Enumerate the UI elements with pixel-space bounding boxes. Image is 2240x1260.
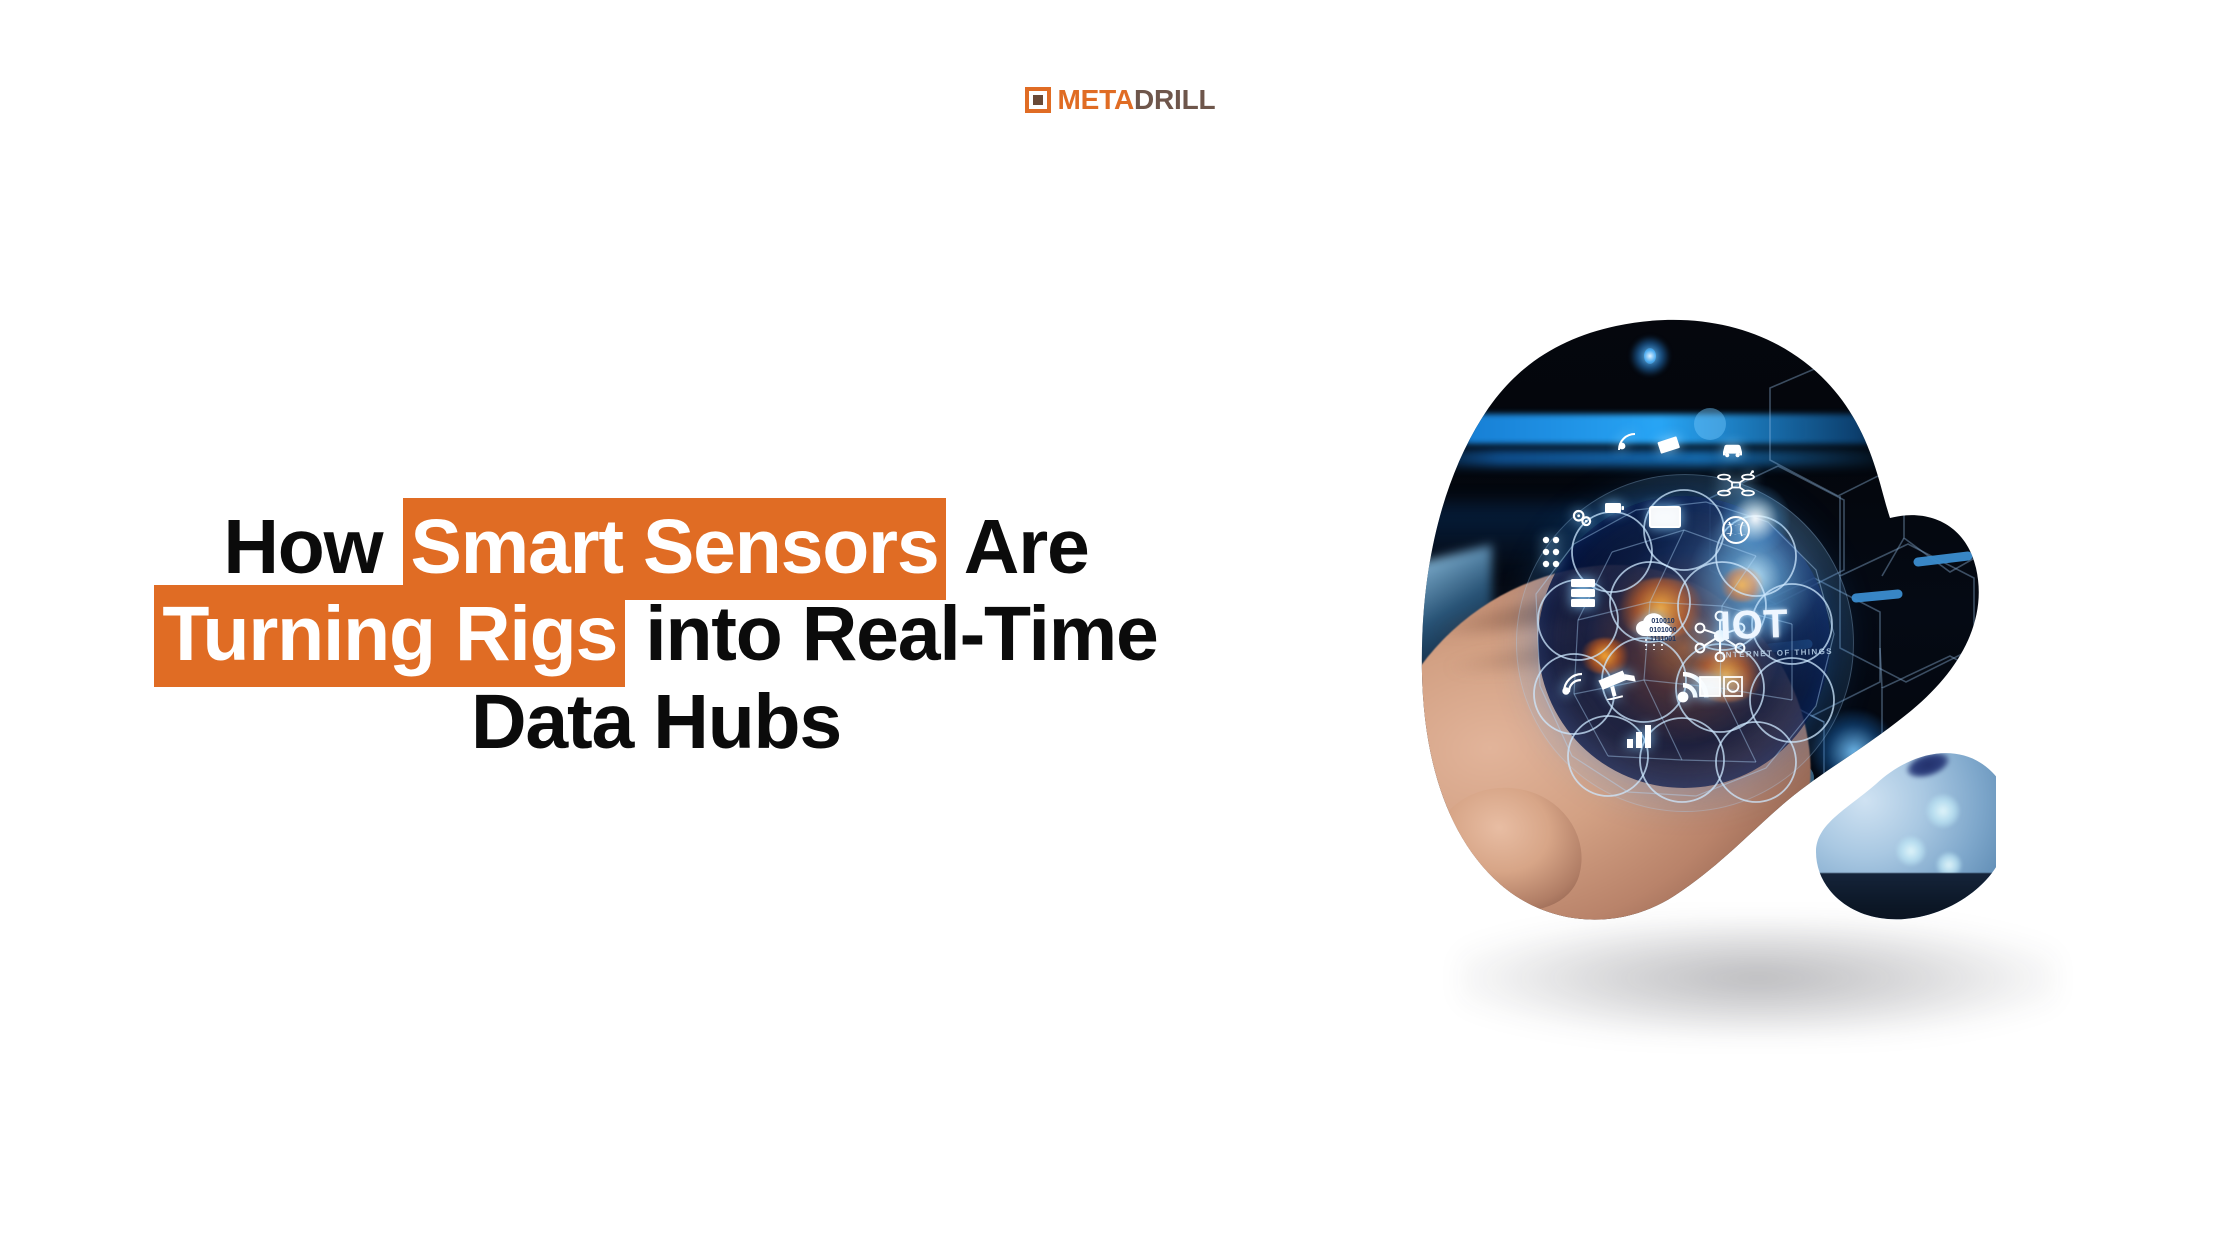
headline-line1-pre: How bbox=[223, 504, 402, 590]
cloud-binary-text: 010010 0101000 1111001 bbox=[1640, 618, 1686, 644]
globe-icon bbox=[1720, 514, 1752, 546]
bar-chart-icon bbox=[1624, 722, 1656, 750]
drone-icon bbox=[1716, 470, 1756, 500]
square-in-square-icon bbox=[1025, 87, 1051, 113]
car-icon bbox=[1720, 440, 1746, 460]
cloud-binary-line-1: 010010 bbox=[1640, 618, 1686, 627]
cloud-binary-line-2: 0101000 bbox=[1640, 627, 1686, 636]
server-rack-icon bbox=[1568, 576, 1598, 610]
headline-highlight-smart-sensors: Smart Sensors bbox=[403, 498, 947, 600]
headline-line-2: Turning Rigs into Real-Time bbox=[96, 591, 1216, 679]
pebble-light-dot-1 bbox=[1926, 794, 1960, 828]
dots-grid-icon bbox=[1540, 534, 1562, 576]
satellite-dish-icon bbox=[1616, 430, 1638, 454]
page-title: How Smart Sensors Are Turning Rigs into … bbox=[96, 504, 1216, 767]
brand-wordmark: METADRILL bbox=[1058, 86, 1216, 114]
monitor-icon bbox=[1648, 504, 1682, 532]
dashboard-icon bbox=[1698, 674, 1744, 700]
headline-line-1: How Smart Sensors Are bbox=[96, 504, 1216, 592]
headline-line-3: Data Hubs bbox=[96, 679, 1216, 767]
iot-wordmark: IOT bbox=[1719, 602, 1850, 647]
pebble-dark-base bbox=[1814, 873, 1996, 923]
cloud-binary-line-3: 1111001 bbox=[1640, 636, 1686, 645]
blob-shape-small bbox=[1814, 748, 1996, 923]
headline-line2-post: into Real-Time bbox=[625, 591, 1158, 677]
battery-icon bbox=[1602, 496, 1626, 520]
signal-tower-icon bbox=[1560, 670, 1590, 698]
brand-name-drill: DRILL bbox=[1134, 84, 1215, 115]
solar-panel-icon bbox=[1656, 434, 1682, 458]
hero-artwork: 010010 0101000 1111001 bbox=[1420, 318, 2100, 1018]
brand-logo[interactable]: METADRILL bbox=[0, 86, 2240, 114]
security-camera-icon bbox=[1596, 670, 1640, 700]
headline-highlight-turning-rigs: Turning Rigs bbox=[154, 585, 625, 687]
brand-name-meta: META bbox=[1058, 84, 1134, 115]
gears-icon bbox=[1570, 506, 1596, 532]
artwork-drop-shadow bbox=[1458, 918, 2058, 1038]
pebble-light-dot-2 bbox=[1896, 836, 1926, 866]
headline-line1-post: Are bbox=[946, 504, 1088, 590]
